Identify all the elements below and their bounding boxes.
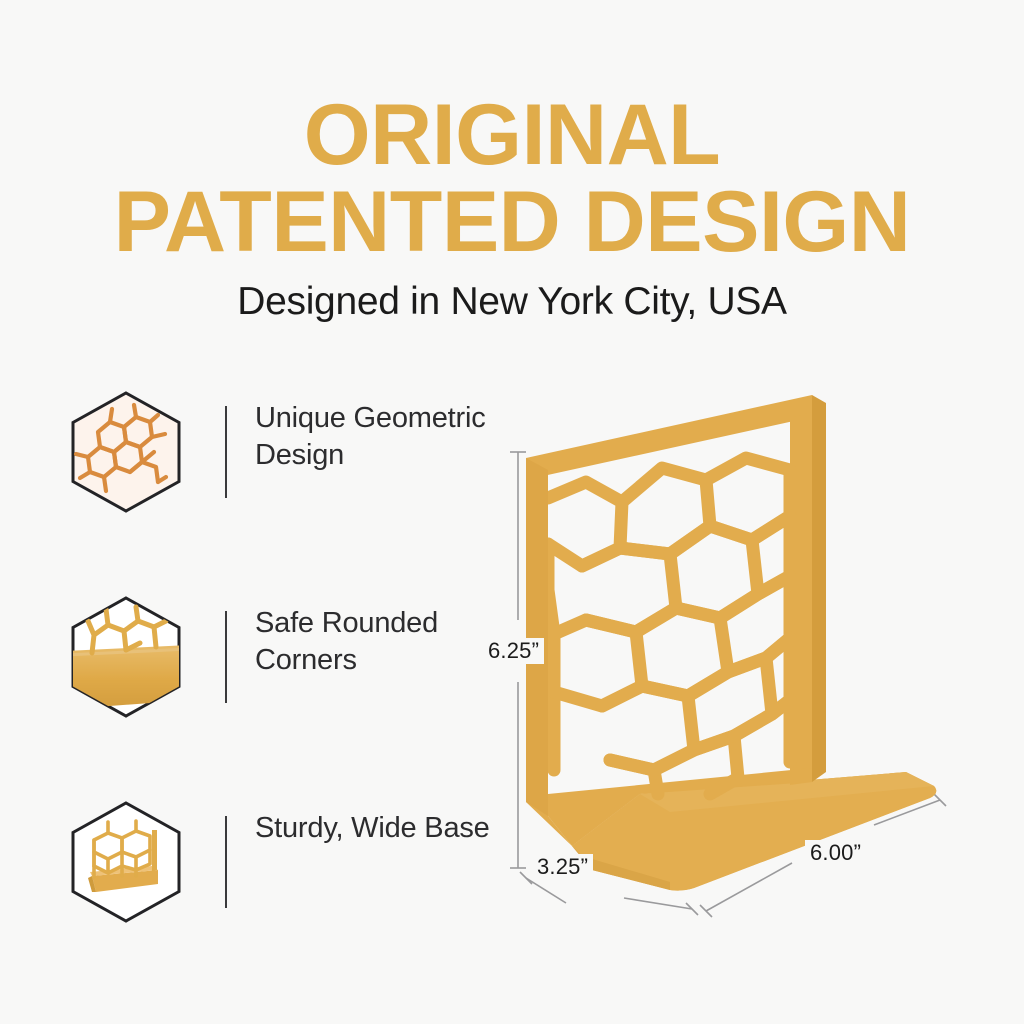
dimension-height-label: 6.25” <box>483 638 544 664</box>
product-illustration: 6.25” 3.25” 6.00” <box>470 370 1015 930</box>
subtitle: Designed in New York City, USA <box>0 280 1024 324</box>
honeycomb-lattice <box>548 458 790 794</box>
feature-item-unique-geometric-design: Unique Geometric Design <box>56 384 526 589</box>
honeycomb-hexagon-icon <box>66 390 186 514</box>
dimension-depth-label: 3.25” <box>532 854 593 880</box>
title-line-2: PATENTED DESIGN <box>0 183 1024 262</box>
feature-divider-2 <box>225 611 227 703</box>
feature-divider-1 <box>225 406 227 498</box>
wide-base-hexagon-icon <box>66 800 186 924</box>
rounded-corner-hexagon-icon <box>66 595 186 719</box>
feature-list: Unique Geometric Design <box>56 384 526 999</box>
bookend-svg <box>470 370 1015 930</box>
infographic-page: ORIGINAL PATENTED DESIGN Designed in New… <box>0 0 1024 1024</box>
feature-divider-3 <box>225 816 227 908</box>
dimension-width-label: 6.00” <box>805 840 866 866</box>
feature-item-safe-rounded-corners: Safe Rounded Corners <box>56 589 526 794</box>
header: ORIGINAL PATENTED DESIGN Designed in New… <box>0 0 1024 324</box>
title-line-1: ORIGINAL <box>0 96 1024 175</box>
bookend-body <box>526 395 936 891</box>
feature-item-sturdy-wide-base: Sturdy, Wide Base <box>56 794 526 999</box>
